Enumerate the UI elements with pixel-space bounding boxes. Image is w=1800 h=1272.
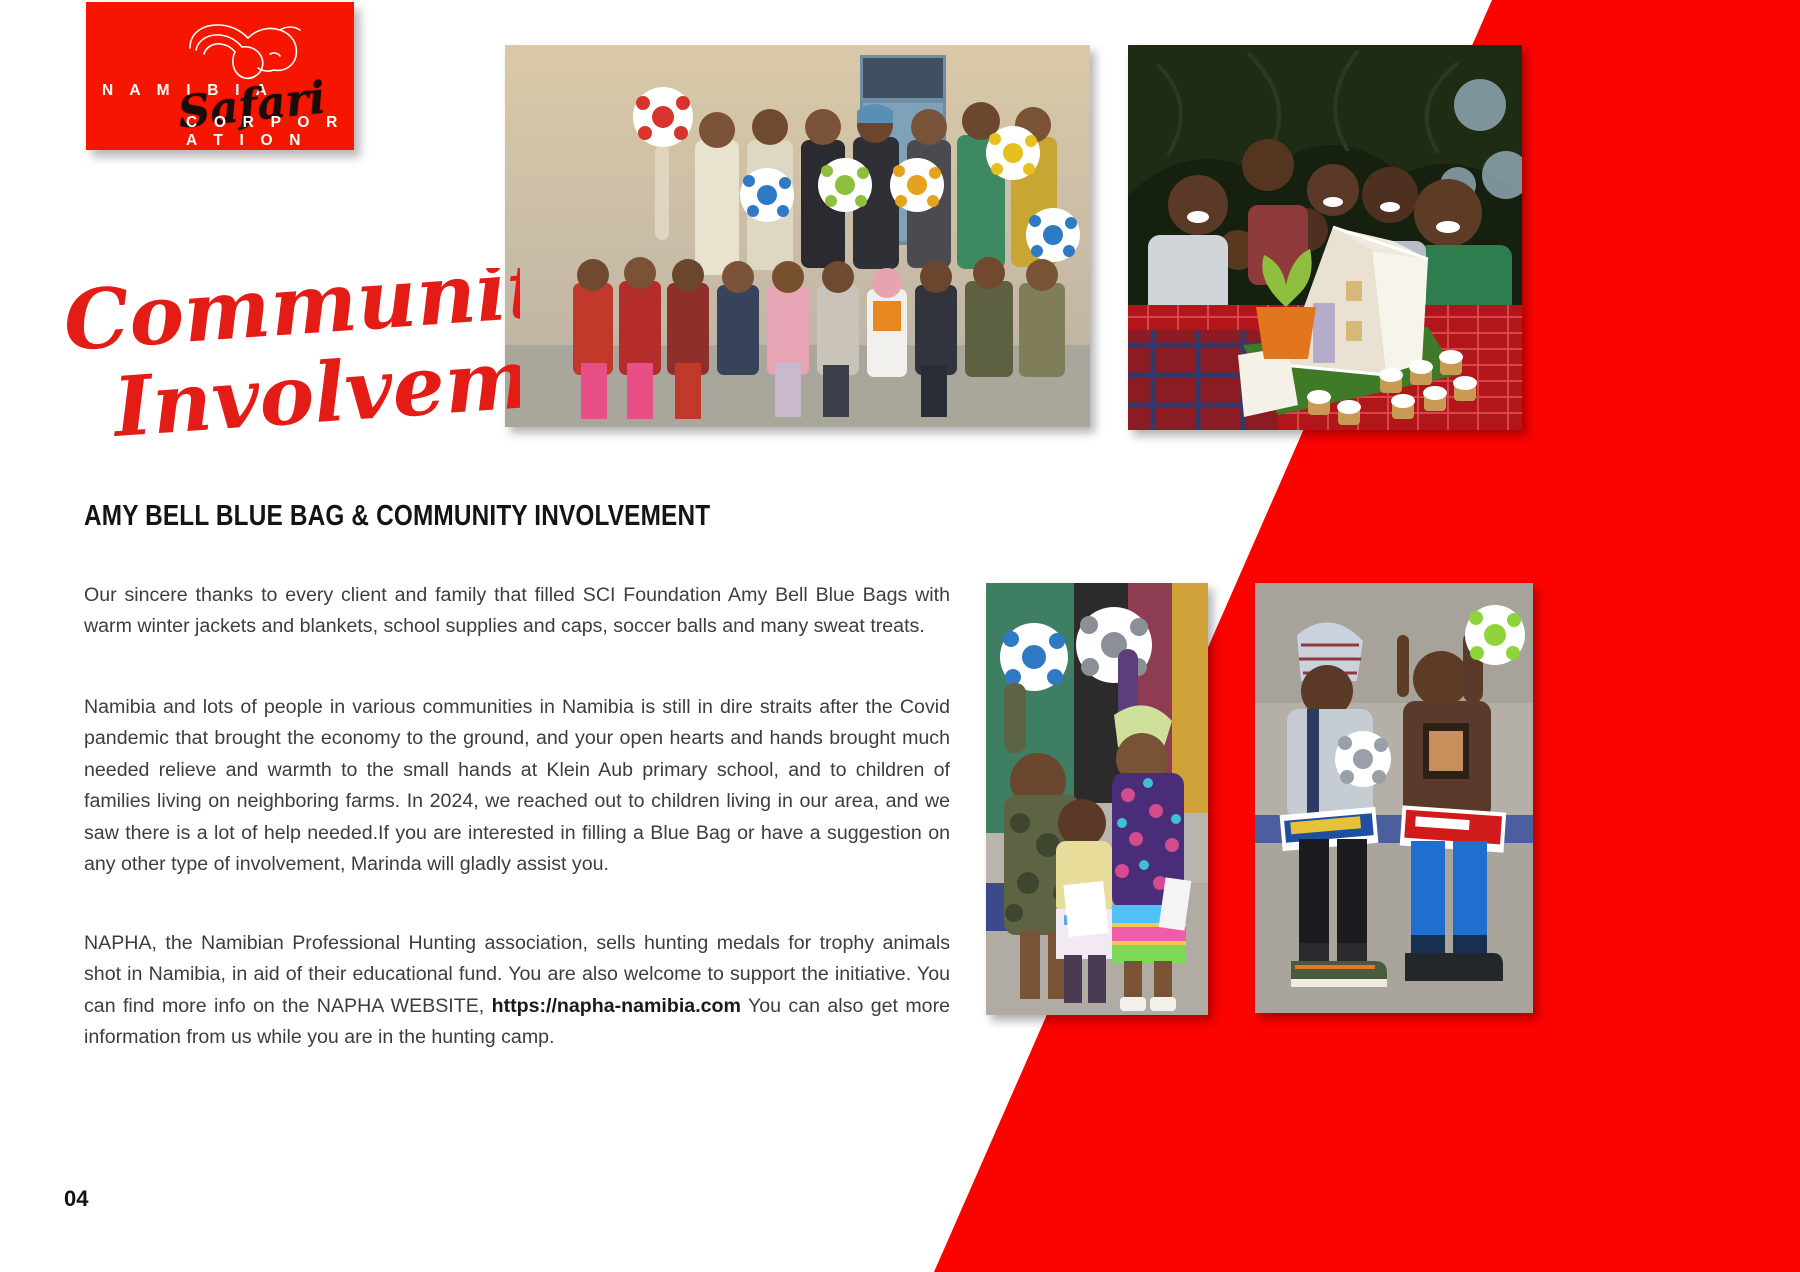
napha-website-link[interactable]: https://napha-namibia.com <box>492 995 741 1017</box>
photo-children-gingerbread-house <box>1128 45 1522 430</box>
photo-three-girls-with-balls <box>986 583 1208 1015</box>
page-title: AMY BELL BLUE BAG & COMMUNITY INVOLVEMEN… <box>84 500 890 533</box>
page-number: 04 <box>64 1186 88 1212</box>
logo-text-corporation: C O R P O R A T I O N <box>186 114 354 150</box>
photo-group-children-soccer-balls <box>505 45 1090 427</box>
photo-two-boys-with-books <box>1255 583 1533 1013</box>
paragraph-thanks: Our sincere thanks to every client and f… <box>84 580 950 643</box>
section-script-title: Community Involvement <box>60 268 520 468</box>
namibia-safari-corporation-logo: N A M I B I A Safari C O R P O R A T I O… <box>86 2 354 150</box>
paragraph-namibia-communities: Namibia and lots of people in various co… <box>84 692 950 881</box>
paragraph-napha: NAPHA, the Namibian Professional Hunting… <box>84 928 950 1054</box>
